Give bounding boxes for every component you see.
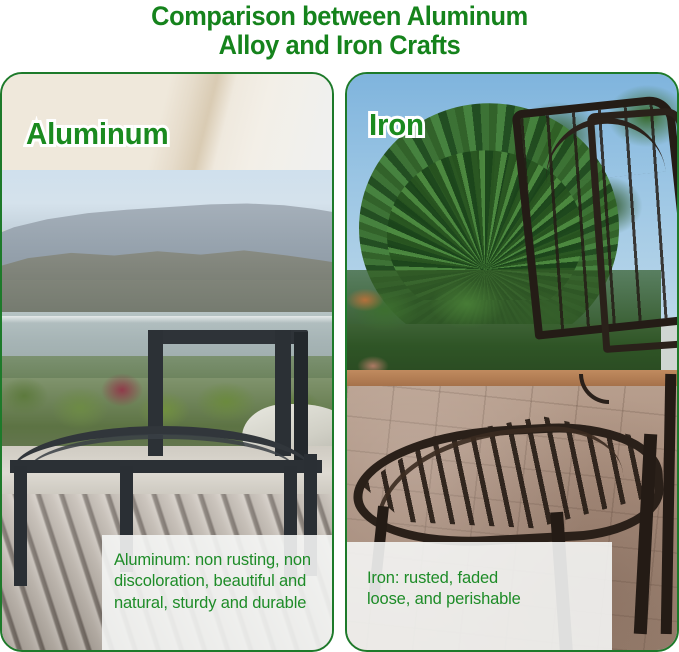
iron-scroll-detail [579,374,609,404]
caption-iron-line-1: Iron: rusted, faded [367,568,612,589]
bench-backrest-right-post [275,330,291,456]
caption-aluminum-line-1: Aluminum: non rusting, non [114,550,334,571]
page-title: Comparison between Aluminum Alloy and Ir… [0,2,679,60]
caption-aluminum: Aluminum: non rusting, non discoloration… [102,535,334,652]
iron-seat-scrollwork [370,421,626,528]
comparison-infographic: Comparison between Aluminum Alloy and Ir… [0,0,679,652]
page-title-line-2: Alloy and Iron Crafts [20,31,658,60]
page-title-line-1: Comparison between Aluminum [20,2,658,31]
caption-aluminum-line-2: discoloration, beautiful and [114,571,334,592]
panel-label-iron: Iron [369,107,424,143]
bench-leg [14,466,27,586]
bench-seat-apron [10,460,322,473]
bench-backrest-outer-post [294,332,308,460]
comparison-panels: Aluminum Aluminum: non rusting, non disc… [0,72,679,652]
caption-aluminum-line-3: natural, sturdy and durable [114,593,334,614]
caption-iron: Iron: rusted, faded loose, and perishabl… [347,542,612,652]
caption-iron-line-2: loose, and perishable [367,589,612,610]
iron-bench-leg [661,374,677,634]
panel-aluminum: Aluminum Aluminum: non rusting, non disc… [0,72,334,652]
panel-iron: Iron Iron: rusted, faded loose, and peri… [345,72,679,652]
panel-label-aluminum: Aluminum [26,116,168,152]
